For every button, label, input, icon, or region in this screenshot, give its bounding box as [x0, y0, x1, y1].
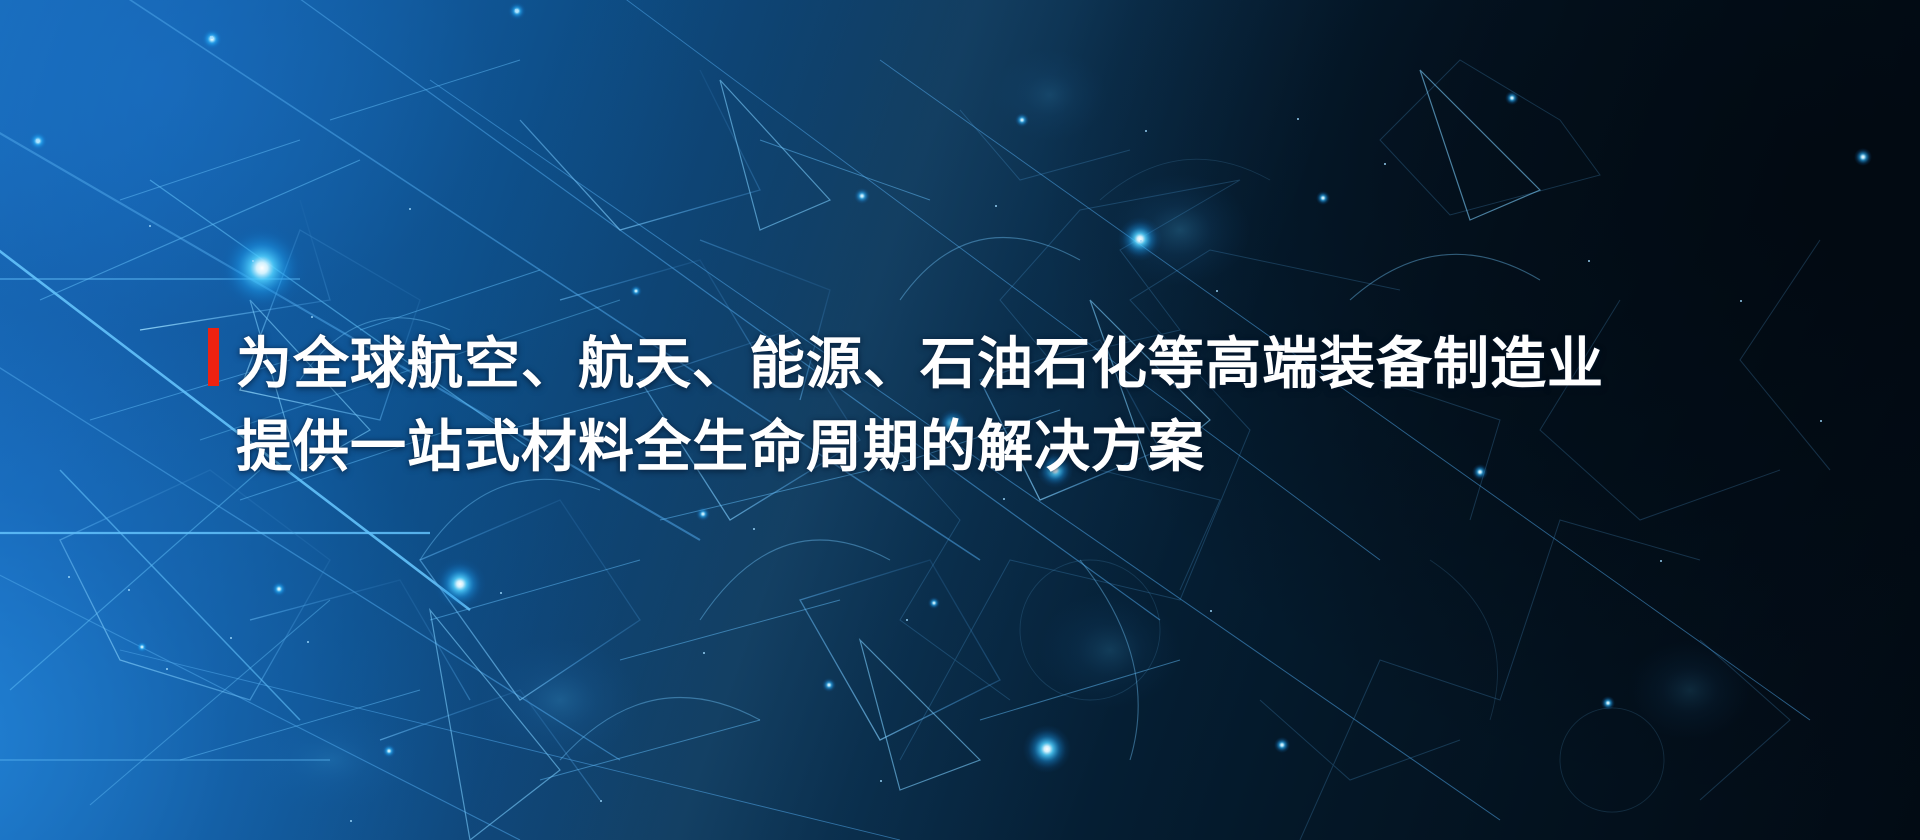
page-title: 为全球航空、航天、能源、石油石化等高端装备制造业 提供一站式材料全生命周期的解决…: [236, 322, 1604, 488]
headline-line-1: 为全球航空、航天、能源、石油石化等高端装备制造业: [236, 322, 1604, 405]
accent-bar: [208, 328, 219, 386]
hero-banner: 为全球航空、航天、能源、石油石化等高端装备制造业 提供一站式材料全生命周期的解决…: [0, 0, 1920, 840]
headline-line-2: 提供一站式材料全生命周期的解决方案: [236, 405, 1604, 488]
headline-block: 为全球航空、航天、能源、石油石化等高端装备制造业 提供一站式材料全生命周期的解决…: [208, 322, 1604, 488]
